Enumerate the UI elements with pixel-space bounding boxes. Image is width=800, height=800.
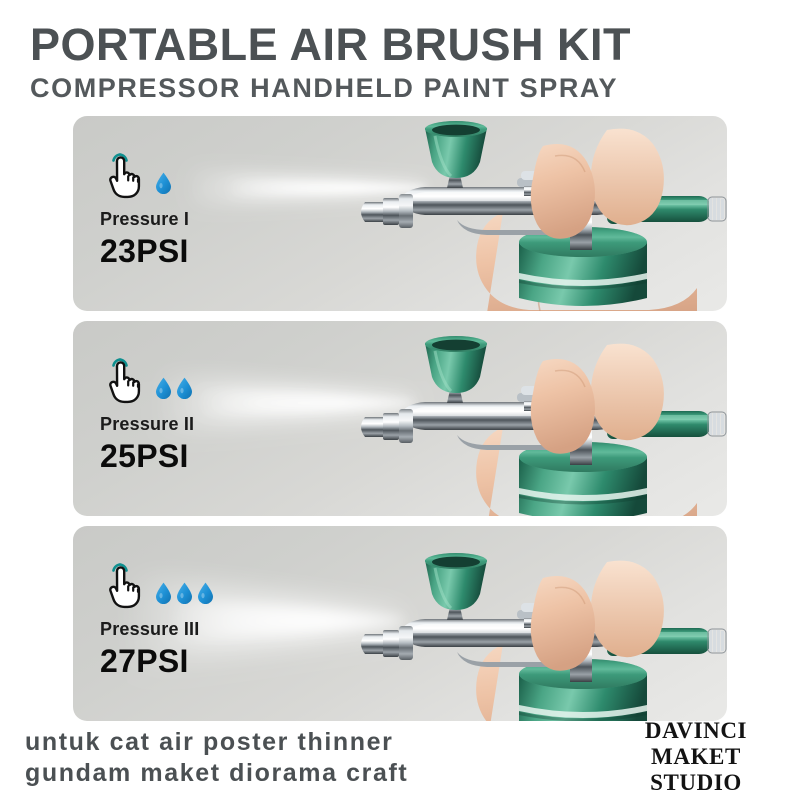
water-droplet-icon-svg <box>197 582 214 604</box>
pressure-info: Pressure II 25PSI <box>100 355 310 475</box>
pressure-info: Pressure III 27PSI <box>100 560 310 680</box>
tap-hand-icon-svg <box>100 150 146 200</box>
tap-hand-icon-svg <box>100 355 146 405</box>
page-subtitle: COMPRESSOR HANDHELD PAINT SPRAY <box>30 74 770 102</box>
pressure-level-label: Pressure II <box>100 414 310 435</box>
water-droplet-icon <box>176 582 193 604</box>
pressure-icon-row <box>100 560 310 610</box>
tap-hand-icon <box>100 355 146 405</box>
water-droplet-icon-svg <box>155 377 172 399</box>
psi-value: 25PSI <box>100 438 310 475</box>
psi-value: 27PSI <box>100 643 310 680</box>
water-droplet-icon <box>155 172 172 194</box>
tap-hand-icon <box>100 150 146 200</box>
droplet-group <box>155 377 193 405</box>
airbrush-product-svg <box>307 116 727 311</box>
brand-line-2: MAKET <box>616 744 776 770</box>
pressure-panel: Pressure I 23PSI <box>73 116 727 311</box>
pressure-level-label: Pressure III <box>100 619 310 640</box>
pressure-panel: Pressure III 27PSI <box>73 526 727 721</box>
footer-line-2: gundam maket diorama craft <box>25 758 408 789</box>
water-droplet-icon <box>197 582 214 604</box>
airbrush-product-image <box>307 321 727 516</box>
pressure-info: Pressure I 23PSI <box>100 150 310 270</box>
pressure-panel: Pressure II 25PSI <box>73 321 727 516</box>
water-droplet-icon <box>155 377 172 399</box>
pressure-icon-row <box>100 355 310 405</box>
airbrush-product-image <box>307 526 727 721</box>
tap-hand-icon-svg <box>100 560 146 610</box>
water-droplet-icon-svg <box>155 582 172 604</box>
droplet-group <box>155 582 214 610</box>
airbrush-product-image <box>307 116 727 311</box>
tap-hand-icon <box>100 560 146 610</box>
droplet-group <box>155 172 172 200</box>
water-droplet-icon-svg <box>176 582 193 604</box>
brand-line-1: DAVINCI <box>616 718 776 744</box>
page-title: PORTABLE AIR BRUSH KIT <box>30 22 770 68</box>
footer-description: untuk cat air poster thinner gundam make… <box>25 727 408 788</box>
pressure-level-label: Pressure I <box>100 209 310 230</box>
water-droplet-icon-svg <box>155 172 172 194</box>
water-droplet-icon <box>176 377 193 399</box>
page-header: PORTABLE AIR BRUSH KIT COMPRESSOR HANDHE… <box>30 22 770 102</box>
brand-logo: DAVINCI MAKET STUDIO <box>616 718 776 795</box>
pressure-icon-row <box>100 150 310 200</box>
airbrush-product-svg <box>307 526 727 721</box>
airbrush-product-svg <box>307 321 727 516</box>
water-droplet-icon-svg <box>176 377 193 399</box>
brand-line-3: STUDIO <box>616 770 776 796</box>
psi-value: 23PSI <box>100 233 310 270</box>
water-droplet-icon <box>155 582 172 604</box>
footer-line-1: untuk cat air poster thinner <box>25 727 408 758</box>
